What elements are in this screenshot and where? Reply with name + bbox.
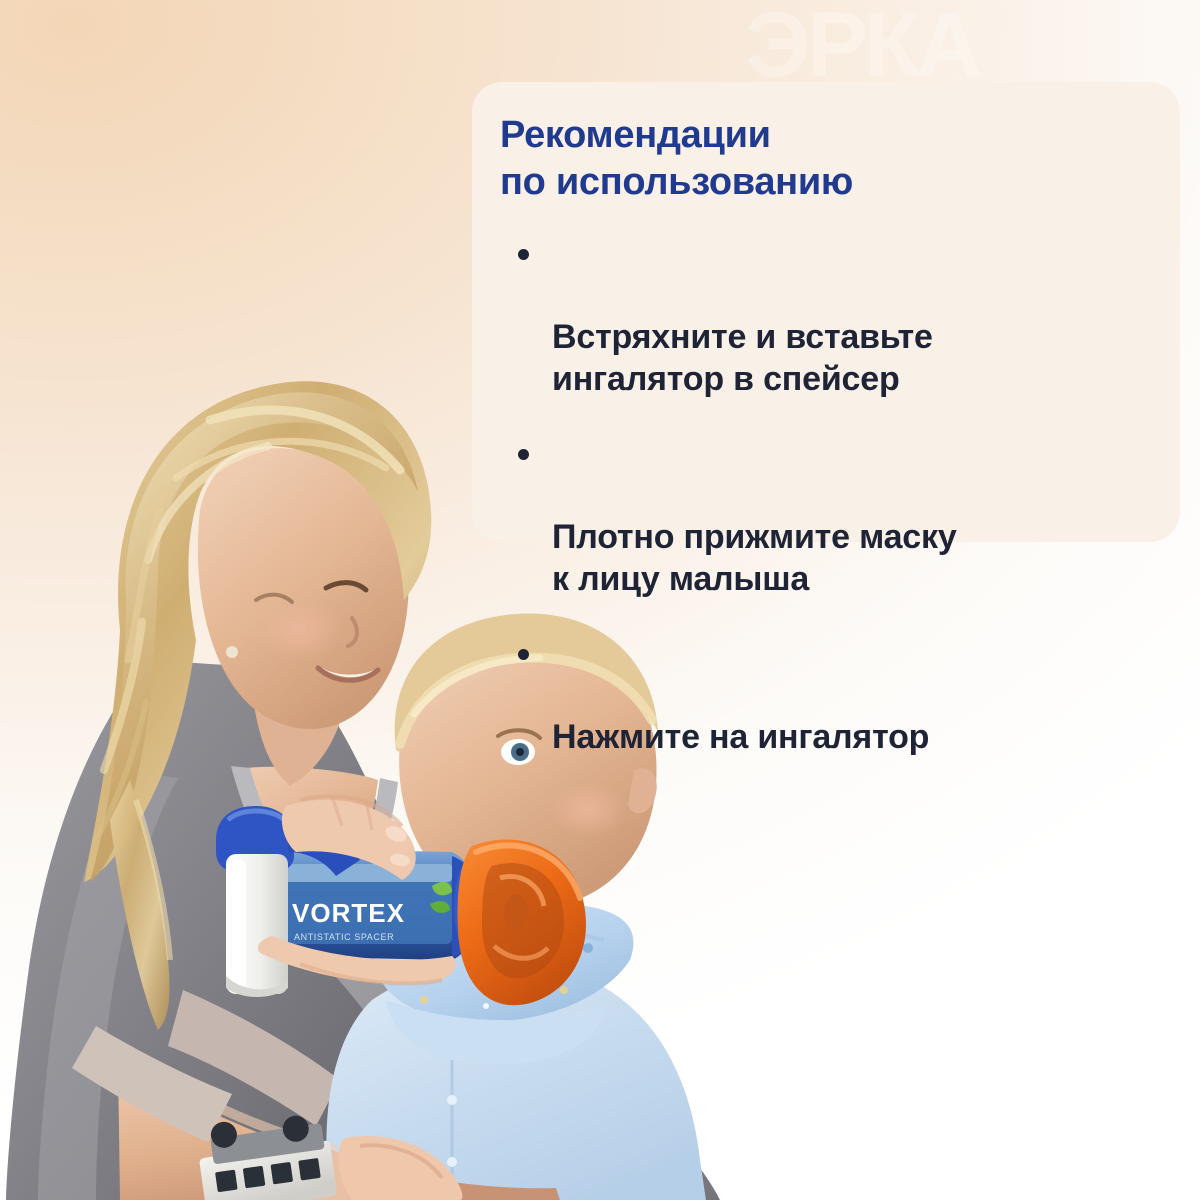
- bullet-dot-icon: [518, 449, 529, 460]
- list-item-text: Встряхните и вставьте ингалятор в спейсе…: [552, 318, 933, 398]
- recommendations-card: Рекомендации по использованию Встряхните…: [472, 82, 1180, 542]
- list-item: Плотно прижмите маску к лицу малыша: [552, 432, 1144, 600]
- list-item: Встряхните и вставьте ингалятор в спейсе…: [552, 232, 1144, 400]
- list-item-text: Плотно прижмите маску к лицу малыша: [552, 518, 957, 598]
- poster-canvas: ЭРКА: [0, 0, 1200, 1200]
- list-item-text: Нажмите на ингалятор: [552, 718, 929, 756]
- svg-text:ANTISTATIC SPACER: ANTISTATIC SPACER: [294, 932, 394, 942]
- bullet-dot-icon: [518, 649, 529, 660]
- card-title: Рекомендации по использованию: [500, 112, 1144, 206]
- bullet-dot-icon: [518, 249, 529, 260]
- list-item: Нажмите на ингалятор: [552, 632, 1144, 758]
- recommendations-list: Встряхните и вставьте ингалятор в спейсе…: [500, 232, 1144, 758]
- spacer-brand-label: VORTEX: [292, 898, 405, 928]
